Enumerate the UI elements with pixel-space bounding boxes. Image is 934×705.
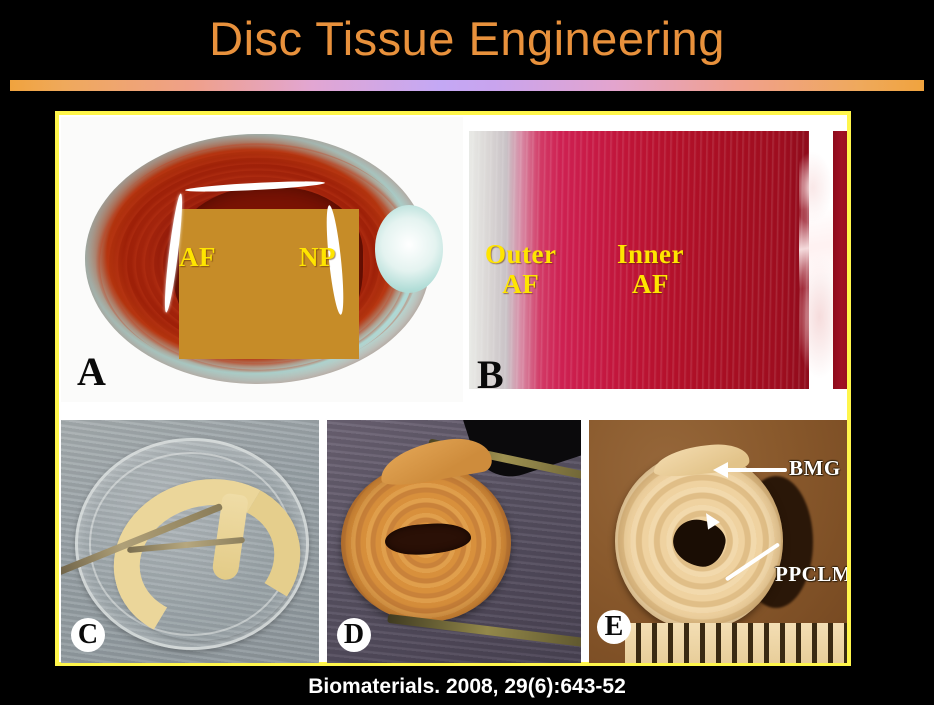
label-inner-af-line1: Inner: [617, 239, 684, 269]
label-inner-af: Inner AF: [617, 239, 684, 299]
label-outer-af-line2: AF: [485, 269, 556, 299]
slide: Disc Tissue Engineering AF NP A: [0, 0, 934, 705]
page-title: Disc Tissue Engineering: [0, 12, 934, 66]
panel-d-rolled-construct: D: [327, 420, 581, 663]
label-np: NP: [299, 242, 336, 273]
panel-letter-b: B: [477, 355, 504, 395]
panel-letter-a: A: [77, 352, 106, 392]
gradient-divider: [10, 80, 924, 91]
bmg-arrow-head-icon: [713, 462, 728, 478]
scale-ruler-ticks: [625, 623, 847, 663]
tissue-right-edge: [833, 131, 847, 389]
label-outer-af: Outer AF: [485, 239, 556, 299]
bmg-arrow-line: [725, 468, 787, 472]
citation-text: Biomaterials. 2008, 29(6):643-52: [0, 674, 934, 700]
panel-e-composite-construct: BMG PPCLM E: [589, 420, 847, 663]
calcified-region: [375, 205, 443, 293]
figure-frame: AF NP A Outer AF Inner AF B: [55, 111, 851, 666]
panel-letter-c: C: [71, 618, 105, 652]
panel-letter-d: D: [337, 618, 371, 652]
panel-letter-e: E: [597, 610, 631, 644]
label-af: AF: [179, 242, 216, 273]
figure-canvas: AF NP A Outer AF Inner AF B: [59, 115, 847, 662]
panel-c-petri-dish: C: [61, 420, 319, 663]
label-bmg: BMG: [789, 456, 841, 481]
panel-b-annulus-fibrosus: Outer AF Inner AF B: [469, 117, 847, 402]
label-ppclm: PPCLM: [775, 562, 847, 587]
label-inner-af-line2: AF: [617, 269, 684, 299]
panel-a-histology-disc: AF NP A: [61, 117, 463, 402]
tissue-edge-crack: [799, 131, 833, 389]
label-outer-af-line1: Outer: [485, 239, 556, 269]
